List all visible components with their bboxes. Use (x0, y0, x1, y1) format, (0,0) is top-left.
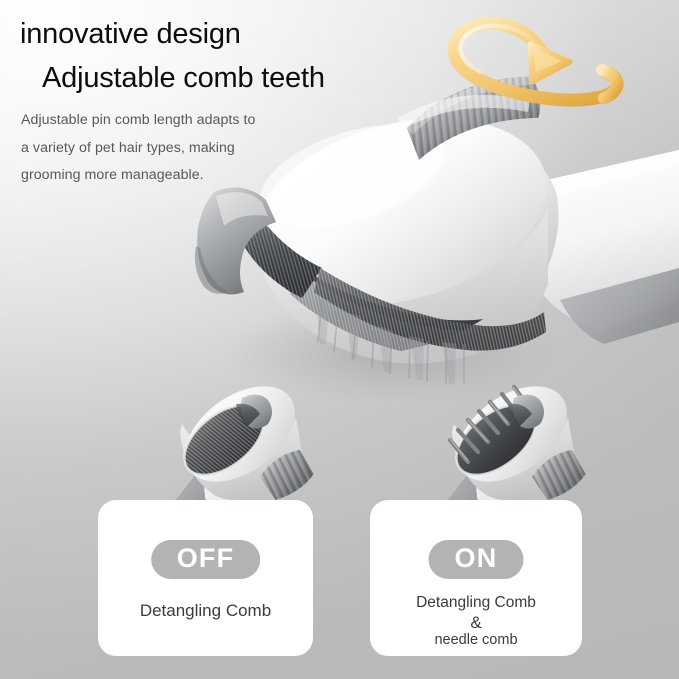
rotate-arrow-icon (424, 2, 674, 132)
card-on[interactable]: ON Detangling Comb & needle comb (370, 500, 582, 656)
status-badge-on: ON (429, 540, 524, 579)
card-off-caption: Detangling Comb (98, 600, 313, 621)
card-off[interactable]: OFF Detangling Comb (98, 500, 313, 656)
card-on-caption-line-1: Detangling Comb (370, 593, 582, 612)
body-description: Adjustable pin comb length adapts to a v… (21, 107, 261, 190)
headline-line-1: innovative design (20, 18, 241, 50)
page-title: innovative design Adjustable comb teeth (20, 12, 450, 100)
product-marketing-image: innovative design Adjustable comb teeth … (0, 0, 679, 679)
status-badge-off: OFF (151, 540, 261, 579)
card-on-caption-line-3: needle comb (370, 631, 582, 649)
headline-line-2: Adjustable comb teeth (20, 56, 450, 100)
